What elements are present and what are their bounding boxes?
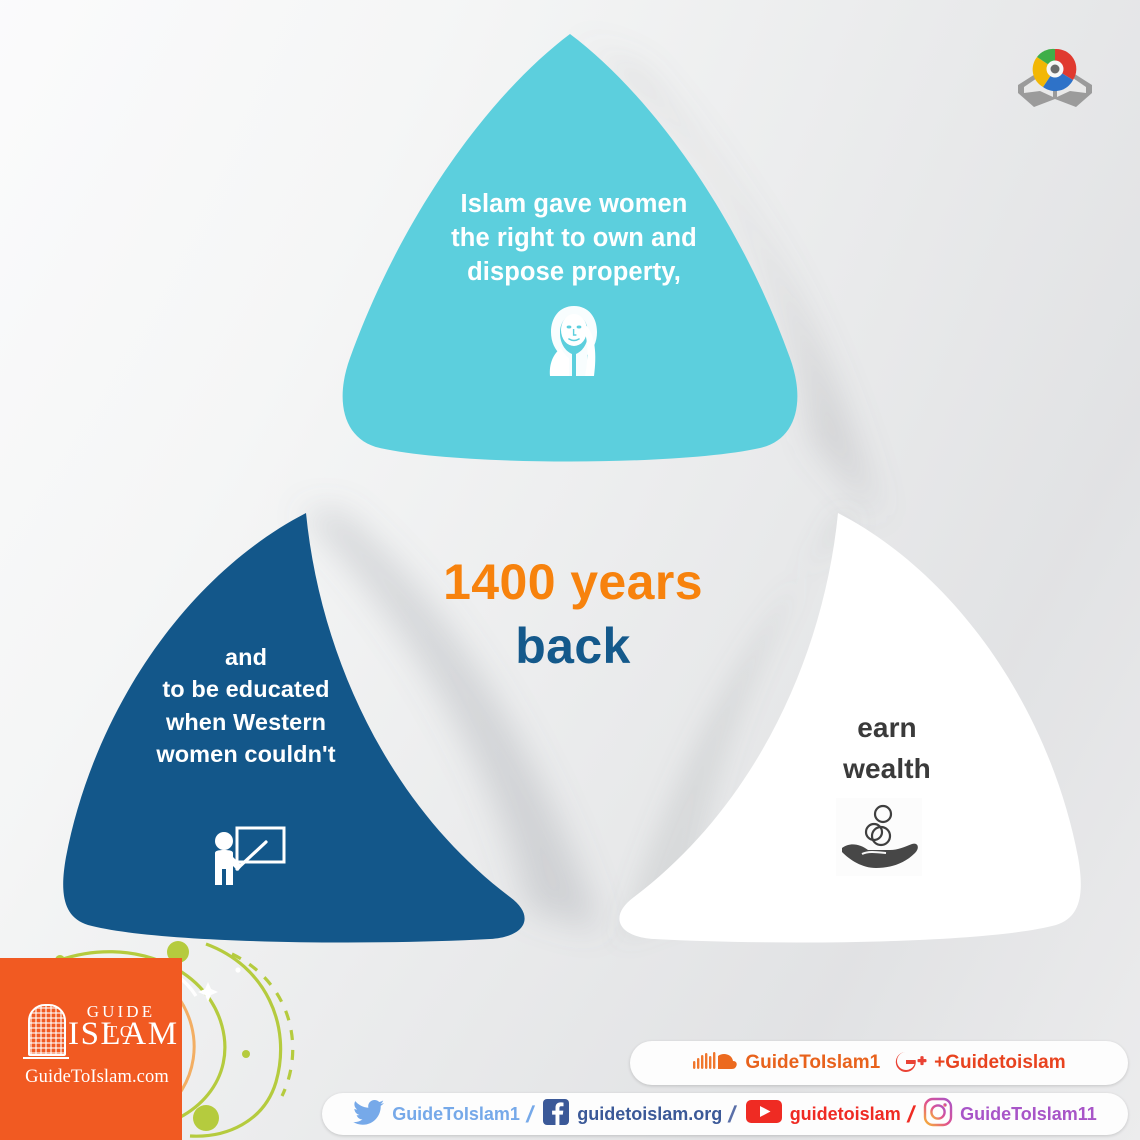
petal-top-line-1: Islam gave women: [406, 188, 742, 222]
petal-top-text: Islam gave women the right to own and di…: [406, 188, 742, 290]
brand-badge[interactable]: GUIDE TO ISLAM GuideToIslam.com: [0, 958, 182, 1140]
hijab-woman-icon: [539, 302, 609, 380]
social-link-soundcloud[interactable]: GuideToIslam1: [692, 1050, 880, 1077]
hand-coins-icon: [836, 798, 922, 876]
social-bar-bottom: GuideToIslam1 / guidetoislam.org / guide…: [322, 1093, 1128, 1135]
infographic-canvas: Islam gave women the right to own and di…: [0, 0, 1140, 1140]
petal-left-line-3: when Western: [110, 706, 382, 738]
social-link-youtube[interactable]: guidetoislam /: [745, 1098, 914, 1130]
petal-left-line-4: women couldn't: [110, 738, 382, 770]
social-bar-top: GuideToIslam1 +Guidetoislam: [630, 1041, 1128, 1085]
facebook-icon: [542, 1098, 570, 1131]
social-label-soundcloud: GuideToIslam1: [745, 1052, 880, 1074]
brand-badge-content: GUIDE TO ISLAM GuideToIslam.com: [22, 1002, 172, 1088]
social-label-facebook: guidetoislam.org: [577, 1104, 722, 1125]
social-label-google-plus: +Guidetoislam: [934, 1052, 1065, 1074]
social-label-twitter: GuideToIslam1: [392, 1104, 520, 1125]
soundcloud-icon: [692, 1050, 738, 1077]
youtube-icon: [745, 1098, 783, 1130]
petal-right-text: earn wealth: [762, 708, 1012, 789]
social-link-google-plus[interactable]: +Guidetoislam: [893, 1049, 1065, 1078]
book-globe-logo-icon[interactable]: [1010, 45, 1100, 117]
social-link-facebook[interactable]: guidetoislam.org /: [542, 1098, 735, 1131]
social-link-instagram[interactable]: GuideToIslam11: [923, 1097, 1097, 1132]
petal-right-line-2: wealth: [762, 749, 1012, 790]
headline-line-1: 1400 years: [330, 556, 816, 608]
social-label-instagram: GuideToIslam11: [960, 1104, 1097, 1125]
teacher-whiteboard-icon: [209, 825, 287, 887]
google-plus-icon: [893, 1049, 927, 1078]
social-label-youtube: guidetoislam: [790, 1104, 901, 1125]
separator-twitter-facebook: /: [524, 1101, 536, 1128]
headline-line-2: back: [330, 608, 816, 686]
social-link-twitter[interactable]: GuideToIslam1 /: [353, 1099, 533, 1130]
twitter-icon: [353, 1099, 385, 1130]
center-headline: 1400 years back: [330, 556, 816, 686]
separator-facebook-youtube: /: [726, 1101, 738, 1128]
brand-wordmark: GUIDE TO ISLAM: [22, 1002, 172, 1058]
brand-wordmark-line-2: ISLAM: [68, 1018, 179, 1051]
petal-top-line-2: the right to own and: [406, 222, 742, 256]
brand-url[interactable]: GuideToIslam.com: [22, 1067, 172, 1088]
petal-right-line-1: earn: [762, 708, 1012, 749]
separator-youtube-instagram: /: [905, 1101, 917, 1128]
mosque-arch-icon: [28, 1004, 66, 1056]
petal-top-line-3: dispose property,: [406, 256, 742, 290]
instagram-icon: [923, 1097, 953, 1132]
